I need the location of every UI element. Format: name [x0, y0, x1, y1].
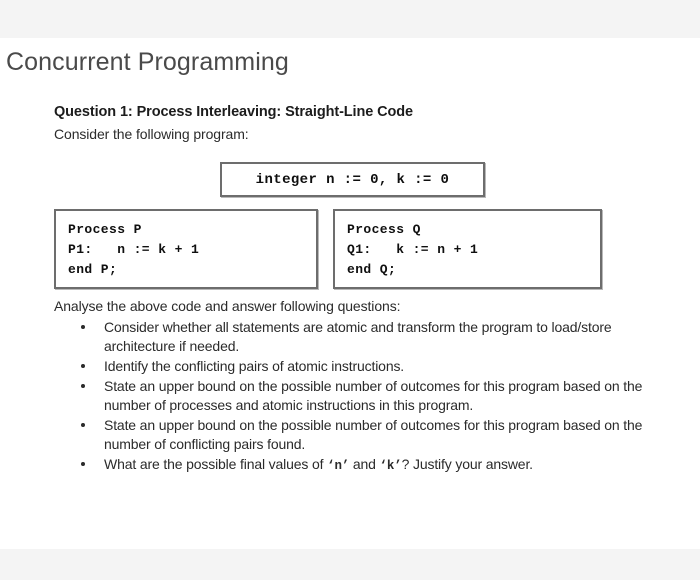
process-q-line-1: Process Q	[347, 220, 600, 240]
bullet-dot-icon	[81, 384, 85, 388]
question-intro: Consider the following program:	[54, 126, 654, 142]
process-q-line-2: Q1: k := n + 1	[347, 240, 600, 260]
bullet-dot-icon	[81, 423, 85, 427]
list-item-text: Identify the conflicting pairs of atomic…	[104, 358, 404, 374]
process-q-code-box: Process Q Q1: k := n + 1 end Q;	[333, 209, 602, 289]
list-item: State an upper bound on the possible num…	[54, 416, 649, 454]
list-item: Identify the conflicting pairs of atomic…	[54, 357, 649, 376]
process-q-line-3: end Q;	[347, 260, 600, 280]
list-item: State an upper bound on the possible num…	[54, 377, 649, 415]
bottom-background-strip	[0, 549, 700, 580]
bullet-dot-icon	[81, 325, 85, 329]
process-p-line-3: end P;	[68, 260, 316, 280]
list-item-text: Consider whether all statements are atom…	[104, 319, 612, 354]
question-heading: Question 1: Process Interleaving: Straig…	[54, 104, 654, 120]
list-item: What are the possible final values of ‘n…	[54, 455, 649, 475]
question-content: Question 1: Process Interleaving: Straig…	[54, 104, 654, 142]
list-item-text-part-1: What are the possible final values of	[104, 456, 327, 472]
bullet-dot-icon	[81, 462, 85, 466]
list-item-text: State an upper bound on the possible num…	[104, 417, 642, 452]
process-p-line-2: P1: n := k + 1	[68, 240, 316, 260]
list-item-text: State an upper bound on the possible num…	[104, 378, 642, 413]
page-title: Concurrent Programming	[6, 48, 289, 77]
process-p-line-1: Process P	[68, 220, 316, 240]
analyse-instruction: Analyse the above code and answer follow…	[54, 298, 400, 314]
list-item-text-part-2: and	[349, 456, 379, 472]
process-p-code-box: Process P P1: n := k + 1 end P;	[54, 209, 318, 289]
list-item-text-part-3: ? Justify your answer.	[402, 456, 533, 472]
question-bullet-list: Consider whether all statements are atom…	[54, 318, 649, 476]
variable-k: ‘k’	[380, 459, 402, 473]
list-item: Consider whether all statements are atom…	[54, 318, 649, 356]
declaration-code-box: integer n := 0, k := 0	[220, 162, 485, 197]
bullet-dot-icon	[81, 364, 85, 368]
declaration-text: integer n := 0, k := 0	[256, 172, 450, 188]
top-background-strip	[0, 0, 700, 38]
variable-n: ‘n’	[327, 459, 349, 473]
